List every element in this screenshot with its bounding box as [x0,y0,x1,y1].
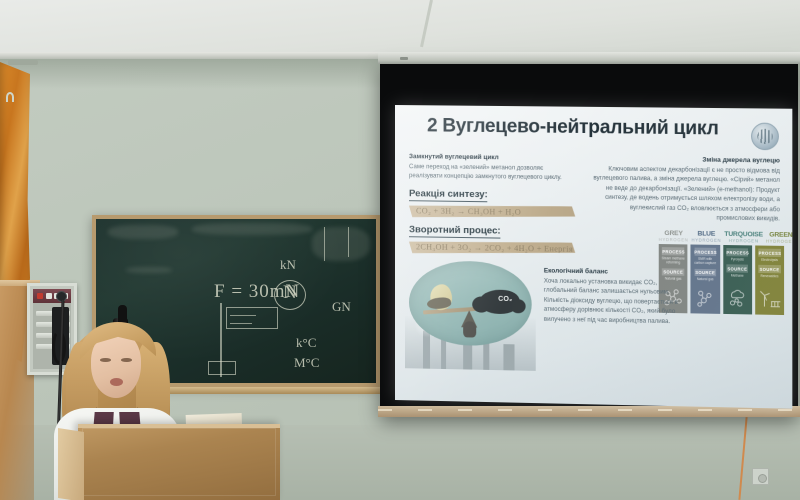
chalk-diagram-base [208,361,236,375]
hydrogen-heading-blue: BLUE HYDROGEN [691,231,721,243]
slide-right-column: Зміна джерела вуглецю Ключовим аспектом … [590,155,779,224]
mouth [110,378,123,386]
cloud-molecule-icon [725,281,750,312]
curtain-rod [8,60,38,65]
slide-left-column: Замкнутий вуглецевий цикл Саме переход н… [409,153,575,256]
chalk-note-mc: M°C [294,355,319,371]
right-body: Ключовим аспектом декарбонізації є не пр… [590,164,779,224]
hydrogen-card-blue: PROCESS SMR with carbon capture SOURCE N… [691,245,720,314]
person-figure [463,321,476,337]
lectern-top-edge [78,424,280,428]
panel-switch-red[interactable] [37,293,43,299]
chalk-smudge [312,227,370,261]
synthesis-equation: CO₂ + 3H₂ → CH₃OH + H₂O [409,204,575,219]
reverse-label: Зворотний процес: [409,224,501,238]
chalk-note-kn: kN [280,257,296,273]
wind-solar-icon [757,281,782,312]
eyes [100,358,132,362]
chalk-diagram-box [226,307,278,329]
eco-illustration: CO₂ [405,260,536,371]
grey-process-tag: PROCESS [662,247,684,255]
turquoise-source-tag: SOURCE [726,265,748,273]
blue-process-tag: PROCESS [694,248,716,256]
molecule-icon [693,285,718,311]
turquoise-process-tag: PROCESS [726,248,748,256]
hydrogen-card-turquoise: PROCESS Pyrolysis SOURCE Methane [723,245,752,314]
wooden-lectern [78,424,280,500]
eye-left [100,358,111,362]
chalk-diagram-rod [220,303,222,377]
ceiling-seam [420,0,433,47]
wall-power-outlet[interactable] [752,468,769,485]
chalk-stroke [324,227,325,261]
smokestack [503,344,514,370]
chalk-smudge [192,223,312,235]
blue-source-text: Natural gas [697,277,714,282]
grey-suffix: HYDROGEN [659,238,689,243]
blue-source-tag: SOURCE [694,269,716,277]
chalk-note-force: F = 30mN [214,281,300,303]
screen-housing-roller[interactable] [378,52,800,64]
grey-process-text: Steam methane reforming [661,256,686,266]
chalk-note-n: N [283,282,298,304]
university-emblem-icon [751,123,779,151]
green-process-text: Electrolysis [761,257,778,262]
chalk-diagram-arrow [230,315,256,316]
classroom-presentation-scene: kN F = 30mN N GN k°C M°C 2 Вуглецево-ней… [0,0,800,500]
green-suffix: HYDROGEN [766,239,792,244]
hydrogen-headings: GREY HYDROGEN BLUE HYDROGEN TURQUOISE HY… [659,231,784,244]
chalk-stroke [348,227,349,257]
eye-right [121,358,132,362]
chalk-note-kc: k°C [296,335,316,351]
left-body: Саме переход на «зелений» метанол дозвол… [409,162,575,183]
eco-text-block: Екологічний баланс Хоча локально установ… [544,267,687,326]
left-heading: Замкнутий вуглецевий цикл [409,153,575,162]
turquoise-process-text: Pyrolysis [731,257,744,262]
green-source-text: Renewables [760,274,778,279]
green-process-tag: PROCESS [758,249,780,257]
eco-body: Хоча локально установка викидає CO₂, гло… [544,276,687,326]
blue-process-text: SMR with carbon capture [693,256,718,266]
housing-brand-mark [400,57,408,60]
hydrogen-heading-turquoise: TURQUOISE HYDROGEN [724,232,762,244]
chalk-diagram-arrow [230,323,252,324]
co2-cloud-label: CO₂ [498,296,512,303]
turquoise-source-text: Methane [731,273,744,278]
blue-suffix: HYDROGEN [691,238,721,243]
hydrogen-card-green: PROCESS Electrolysis SOURCE Renewables [755,246,784,316]
green-source-tag: SOURCE [758,265,780,273]
chalk-smudge [126,267,172,273]
panel-switch-1[interactable] [46,293,52,299]
chalk-circle [274,280,306,310]
reverse-equation: 2CH₃OH + 3O₂ → 2CO₂ + 4H₂O + Енергія [409,240,575,256]
curtain-hook-icon [6,92,14,102]
slide-title: 2 Вуглецево-нейтральний цикл [427,115,719,140]
synthesis-label: Реакція синтезу: [409,188,488,202]
screen-bottom-trim [378,406,800,417]
hydrogen-heading-grey: GREY HYDROGEN [659,231,689,243]
eco-heading: Екологічний баланс [544,267,687,276]
presentation-slide: 2 Вуглецево-нейтральний цикл Замкнутий в… [395,105,792,409]
right-heading: Зміна джерела вуглецю [590,155,779,164]
chalk-note-gn: GN [332,299,351,315]
emblem-glyph [757,129,772,144]
lectern-side-panel [58,428,84,500]
turquoise-suffix: HYDROGEN [724,239,762,244]
chalk-smudge [108,225,178,239]
hydrogen-heading-green: GREEN HYDROGEN [766,232,792,244]
